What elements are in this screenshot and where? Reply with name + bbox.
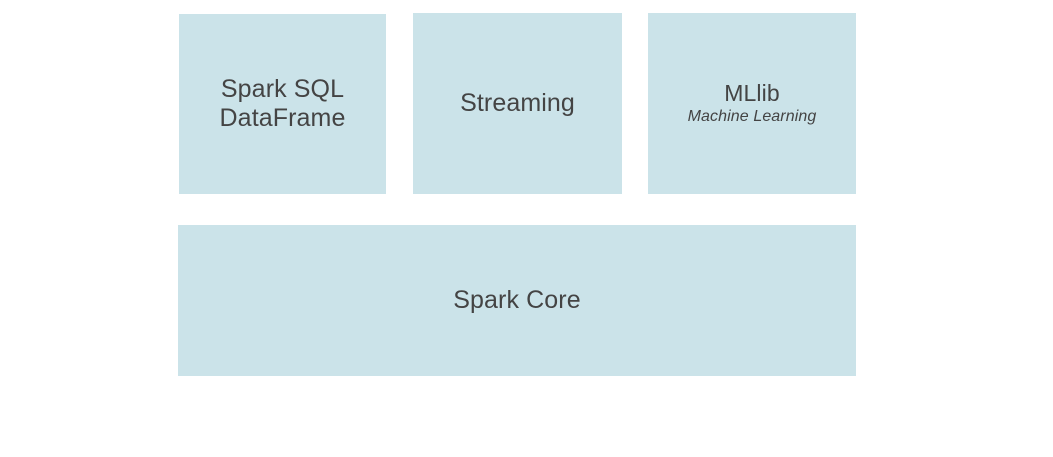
streaming-label: Streaming bbox=[460, 89, 575, 119]
spark-core-label: Spark Core bbox=[453, 286, 580, 316]
mllib-subtitle-label: Machine Learning bbox=[688, 108, 817, 127]
diagram-canvas: Spark SQL DataFrame Streaming MLlib Mach… bbox=[0, 0, 1053, 457]
diagram-box-streaming[interactable]: Streaming bbox=[413, 13, 622, 194]
diagram-box-spark-core[interactable]: Spark Core bbox=[178, 225, 856, 376]
diagram-box-mllib[interactable]: MLlib Machine Learning bbox=[648, 13, 856, 194]
mllib-label: MLlib bbox=[724, 80, 779, 107]
diagram-box-spark-sql[interactable]: Spark SQL DataFrame bbox=[179, 14, 386, 194]
spark-sql-label-line2: DataFrame bbox=[220, 104, 346, 134]
spark-sql-label-line1: Spark SQL bbox=[221, 75, 344, 105]
